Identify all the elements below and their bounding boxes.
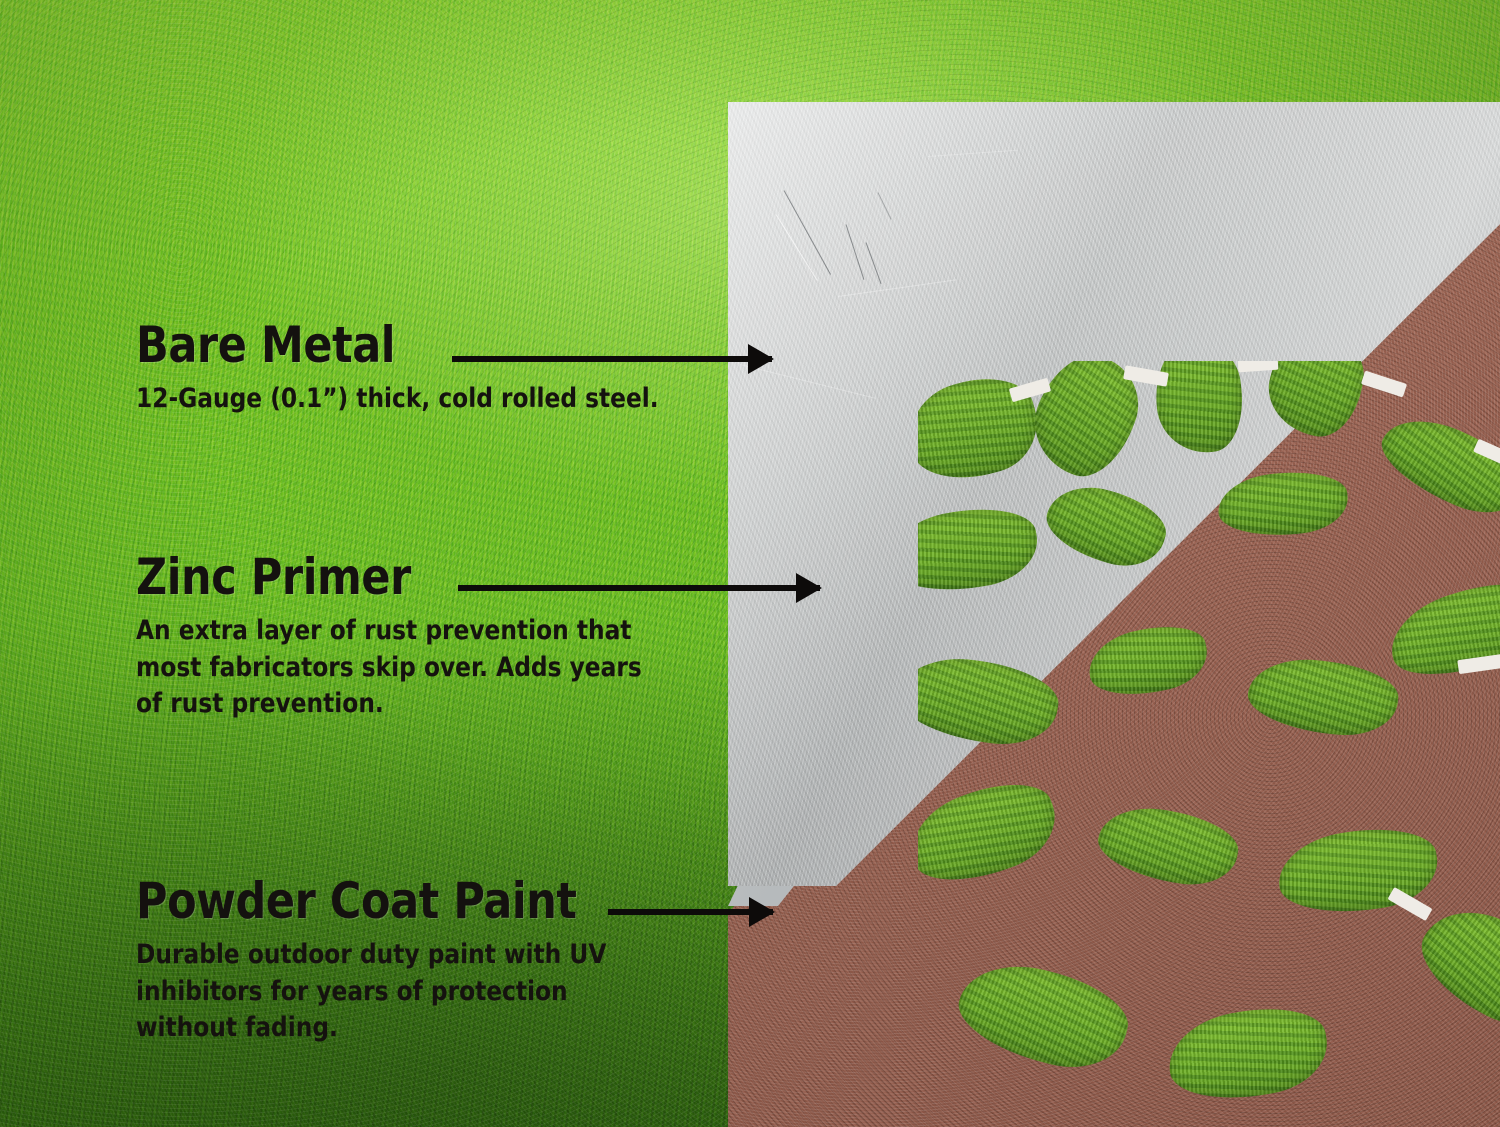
callout-body-zinc-primer: An extra layer of rust prevention that m… [136,613,664,723]
arrow-to-powder-coat-layer [608,909,773,915]
callout-title-powder-coat-paint: Powder Coat Paint [136,876,669,927]
callout-body-bare-metal: 12-Gauge (0.1”) thick, cold rolled steel… [136,381,659,418]
callout-powder-coat-paint: Powder Coat Paint Durable outdoor duty p… [136,876,756,1047]
feature-diagram-image: Bare Metal 12-Gauge (0.1”) thick, cold r… [0,0,1500,1127]
arrow-to-zinc-primer-layer [458,585,820,591]
arrow-to-bare-metal-layer [452,356,772,362]
callout-title-zinc-primer: Zinc Primer [136,552,652,603]
steel-panel-graphic [718,96,1500,1127]
callout-zinc-primer: Zinc Primer An extra layer of rust preve… [136,552,736,723]
callout-body-powder-coat-paint: Durable outdoor duty paint with UV inhib… [136,937,664,1047]
callout-bare-metal: Bare Metal 12-Gauge (0.1”) thick, cold r… [136,320,730,418]
sun-face-cutout [918,361,1500,1127]
callout-title-bare-metal: Bare Metal [136,320,647,371]
